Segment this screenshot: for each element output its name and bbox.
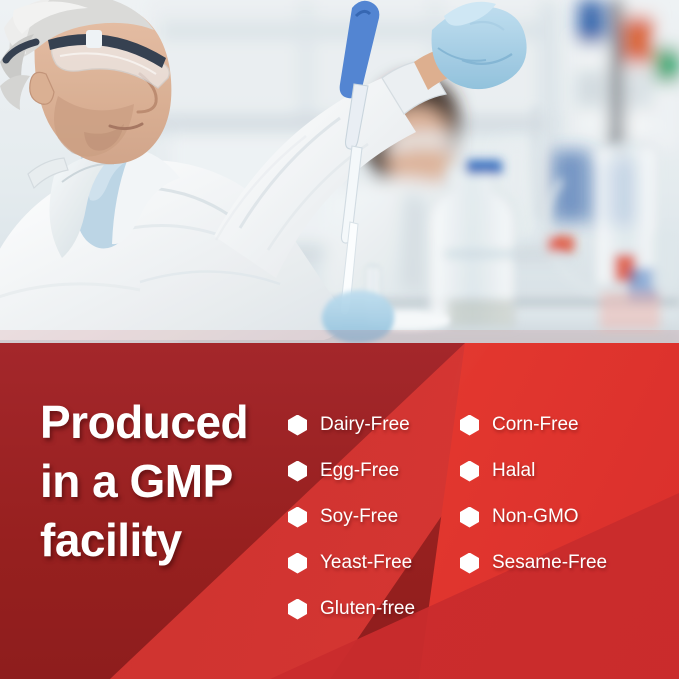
claim-label: Egg-Free (320, 461, 399, 481)
claim-label: Corn-Free (492, 415, 579, 435)
claim-label: Non-GMO (492, 507, 579, 527)
list-item: Sesame-Free (460, 540, 660, 586)
hexagon-bullet-icon (288, 461, 307, 482)
list-item: Non-GMO (460, 494, 660, 540)
list-item: Dairy-Free (288, 402, 460, 448)
list-item: Halal (460, 448, 660, 494)
claim-label: Halal (492, 461, 535, 481)
list-item: Corn-Free (460, 402, 660, 448)
claim-label: Dairy-Free (320, 415, 410, 435)
hexagon-bullet-icon (460, 461, 479, 482)
hexagon-bullet-icon (460, 553, 479, 574)
hexagon-bullet-icon (460, 507, 479, 528)
hexagon-bullet-icon (288, 599, 307, 620)
claims-lists: Dairy-Free Egg-Free Soy-Free Yeast-Free (288, 402, 679, 632)
banner-canvas: Produced in a GMP facility Dairy-Free Eg… (0, 0, 679, 679)
claims-column-left: Dairy-Free Egg-Free Soy-Free Yeast-Free (288, 402, 460, 632)
list-item: Egg-Free (288, 448, 460, 494)
hexagon-bullet-icon (288, 553, 307, 574)
claim-label: Soy-Free (320, 507, 398, 527)
claim-label: Gluten-free (320, 599, 415, 619)
hexagon-bullet-icon (288, 507, 307, 528)
page-title: Produced in a GMP facility (40, 393, 285, 570)
panel-content: Produced in a GMP facility Dairy-Free Eg… (0, 0, 679, 679)
list-item: Soy-Free (288, 494, 460, 540)
list-item: Yeast-Free (288, 540, 460, 586)
claim-label: Sesame-Free (492, 553, 607, 573)
claim-label: Yeast-Free (320, 553, 412, 573)
claims-column-right: Corn-Free Halal Non-GMO Sesame-Free (460, 402, 660, 632)
list-item: Gluten-free (288, 586, 460, 632)
hexagon-bullet-icon (288, 415, 307, 436)
hexagon-bullet-icon (460, 415, 479, 436)
